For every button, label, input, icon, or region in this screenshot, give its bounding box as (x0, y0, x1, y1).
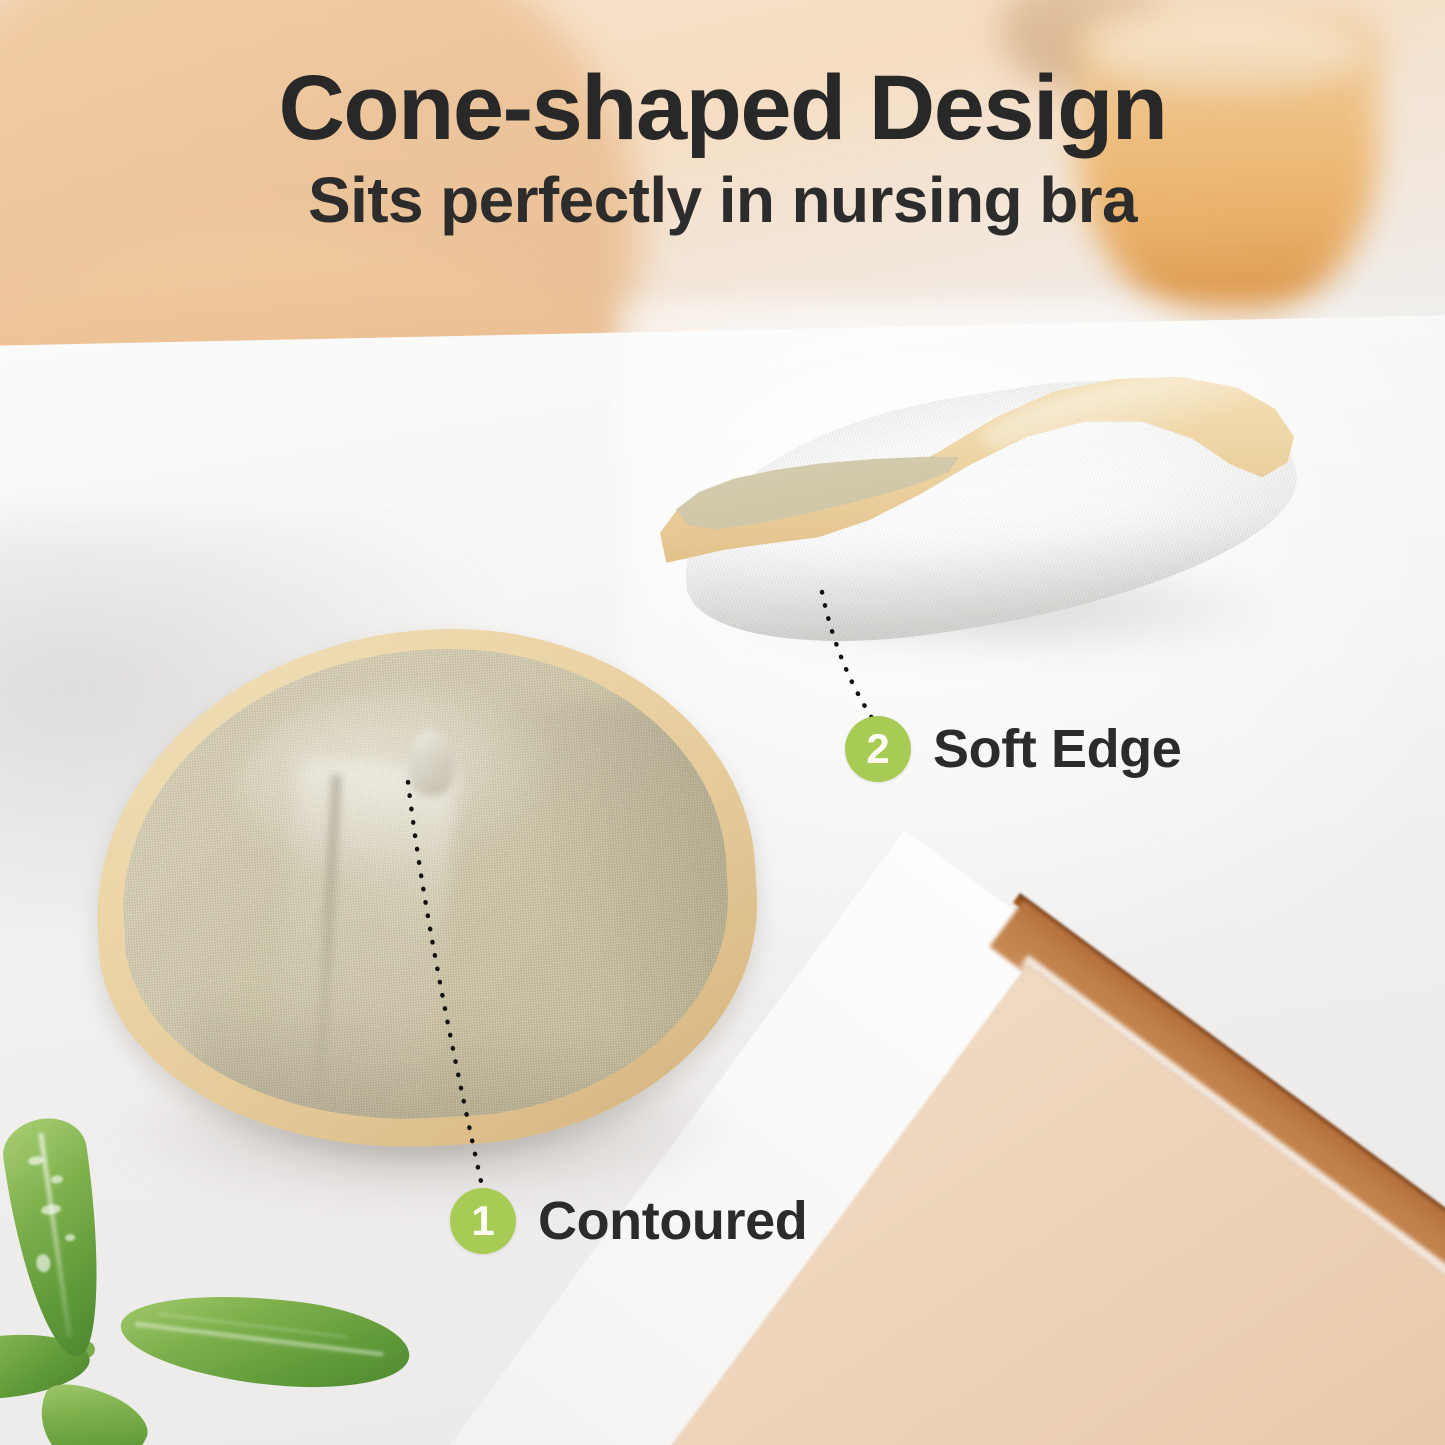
page-subtitle: Sits perfectly in nursing bra (0, 168, 1445, 232)
callout-soft-edge: 2 Soft Edge (845, 716, 1181, 782)
callout-label-contoured: Contoured (538, 1190, 807, 1252)
callout-badge-2: 2 (845, 716, 911, 782)
heading-block: Cone-shaped Design Sits perfectly in nur… (0, 62, 1445, 232)
callout-contoured: 1 Contoured (450, 1188, 807, 1254)
leader-path-1 (408, 782, 482, 1186)
product-infographic: Cone-shaped Design Sits perfectly in nur… (0, 0, 1445, 1445)
callout-badge-1: 1 (450, 1188, 516, 1254)
page-title: Cone-shaped Design (0, 62, 1445, 154)
callout-label-soft-edge: Soft Edge (933, 718, 1181, 780)
